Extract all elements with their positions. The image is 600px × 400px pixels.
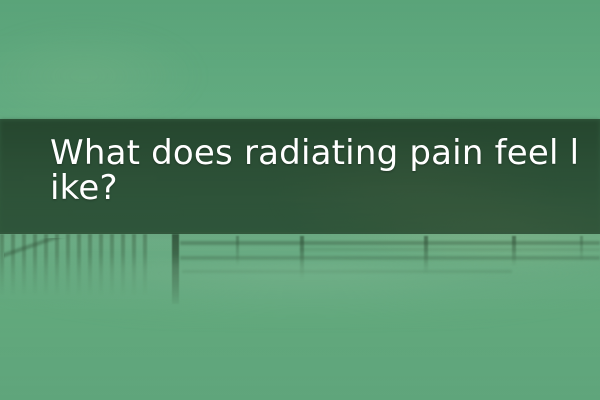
rail-fence-post bbox=[580, 236, 583, 262]
caption-overlay-band: What does radiating pain feel like? bbox=[0, 119, 600, 234]
rail-fence-rail bbox=[180, 241, 600, 245]
caption-title: What does radiating pain feel like? bbox=[0, 119, 600, 206]
rail-fence-rail bbox=[300, 248, 600, 251]
sky-haze bbox=[0, 24, 204, 128]
rail-fence-rail bbox=[180, 256, 600, 260]
snow-drift bbox=[0, 262, 600, 322]
image-card: What does radiating pain feel like? bbox=[0, 0, 600, 400]
